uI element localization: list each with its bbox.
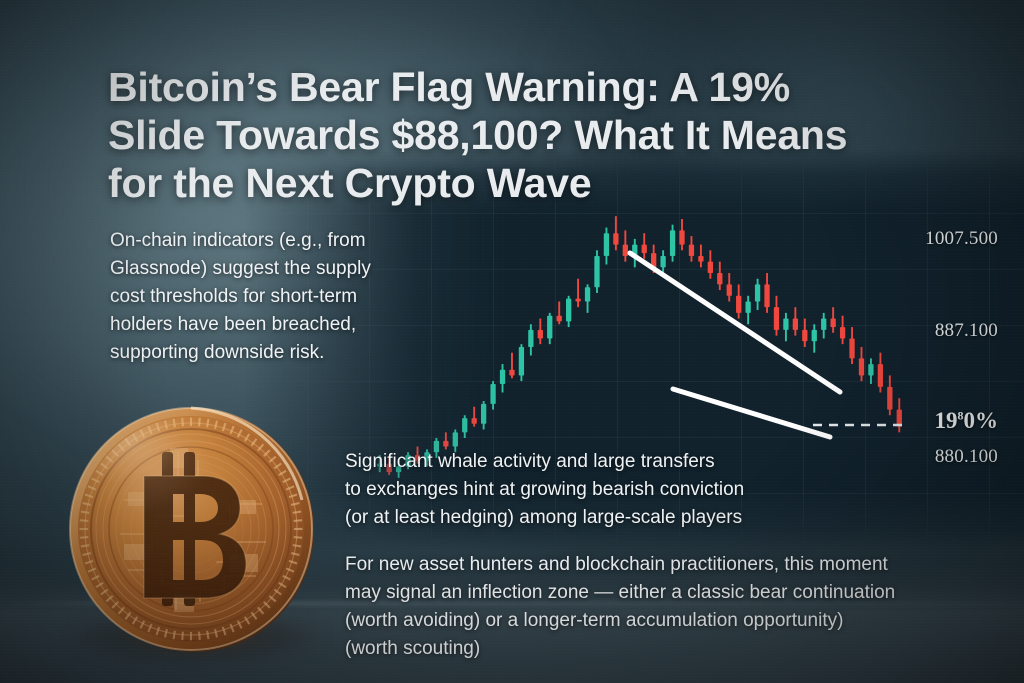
infographic-canvas: 1007.500 887.100 1980% 880.100 Bitcoin’s…: [0, 0, 1024, 683]
grain-overlay: [0, 0, 1024, 683]
